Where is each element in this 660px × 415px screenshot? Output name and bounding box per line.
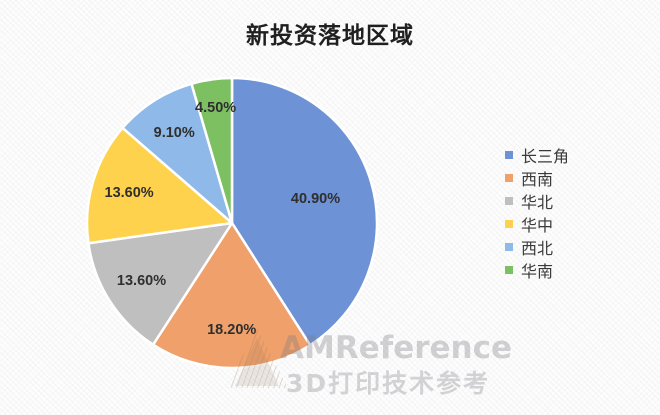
legend-item-label: 西北 xyxy=(521,235,553,259)
pie-plot-area: 40.90%18.20%13.60%13.60%9.10%4.50% xyxy=(32,48,472,398)
pie-slice-value-label: 40.90% xyxy=(291,191,340,207)
legend-item[interactable]: 华南 xyxy=(505,258,645,281)
legend-item[interactable]: 华中 xyxy=(505,212,645,235)
pie-slice-value-label: 18.20% xyxy=(207,322,256,338)
legend-item[interactable]: 长三角 xyxy=(505,143,645,166)
legend-item-label: 华南 xyxy=(521,258,553,282)
pie-slice-value-label: 13.60% xyxy=(105,185,154,201)
legend-item[interactable]: 华北 xyxy=(505,189,645,212)
legend-item-label: 华北 xyxy=(521,189,553,213)
legend-swatch-icon xyxy=(505,197,513,205)
legend-item[interactable]: 西南 xyxy=(505,166,645,189)
legend-swatch-icon xyxy=(505,220,513,228)
pie-slice-value-label: 4.50% xyxy=(195,100,236,116)
legend-item-label: 西南 xyxy=(521,166,553,190)
legend-swatch-icon xyxy=(505,243,513,251)
legend-swatch-icon xyxy=(505,266,513,274)
pie-slice-value-label: 9.10% xyxy=(154,125,195,141)
legend-swatch-icon xyxy=(505,151,513,159)
pie-slices-svg xyxy=(32,48,472,398)
chart-legend: 长三角西南华北华中西北华南 xyxy=(505,143,645,281)
legend-swatch-icon xyxy=(505,174,513,182)
pie-chart-figure: 新投资落地区域 40.90%18.20%13.60%13.60%9.10%4.5… xyxy=(0,0,660,415)
pie-slice-value-label: 13.60% xyxy=(117,273,166,289)
legend-item[interactable]: 西北 xyxy=(505,235,645,258)
legend-item-label: 华中 xyxy=(521,212,553,236)
legend-item-label: 长三角 xyxy=(521,143,569,167)
page-title: 新投资落地区域 xyxy=(0,16,660,50)
